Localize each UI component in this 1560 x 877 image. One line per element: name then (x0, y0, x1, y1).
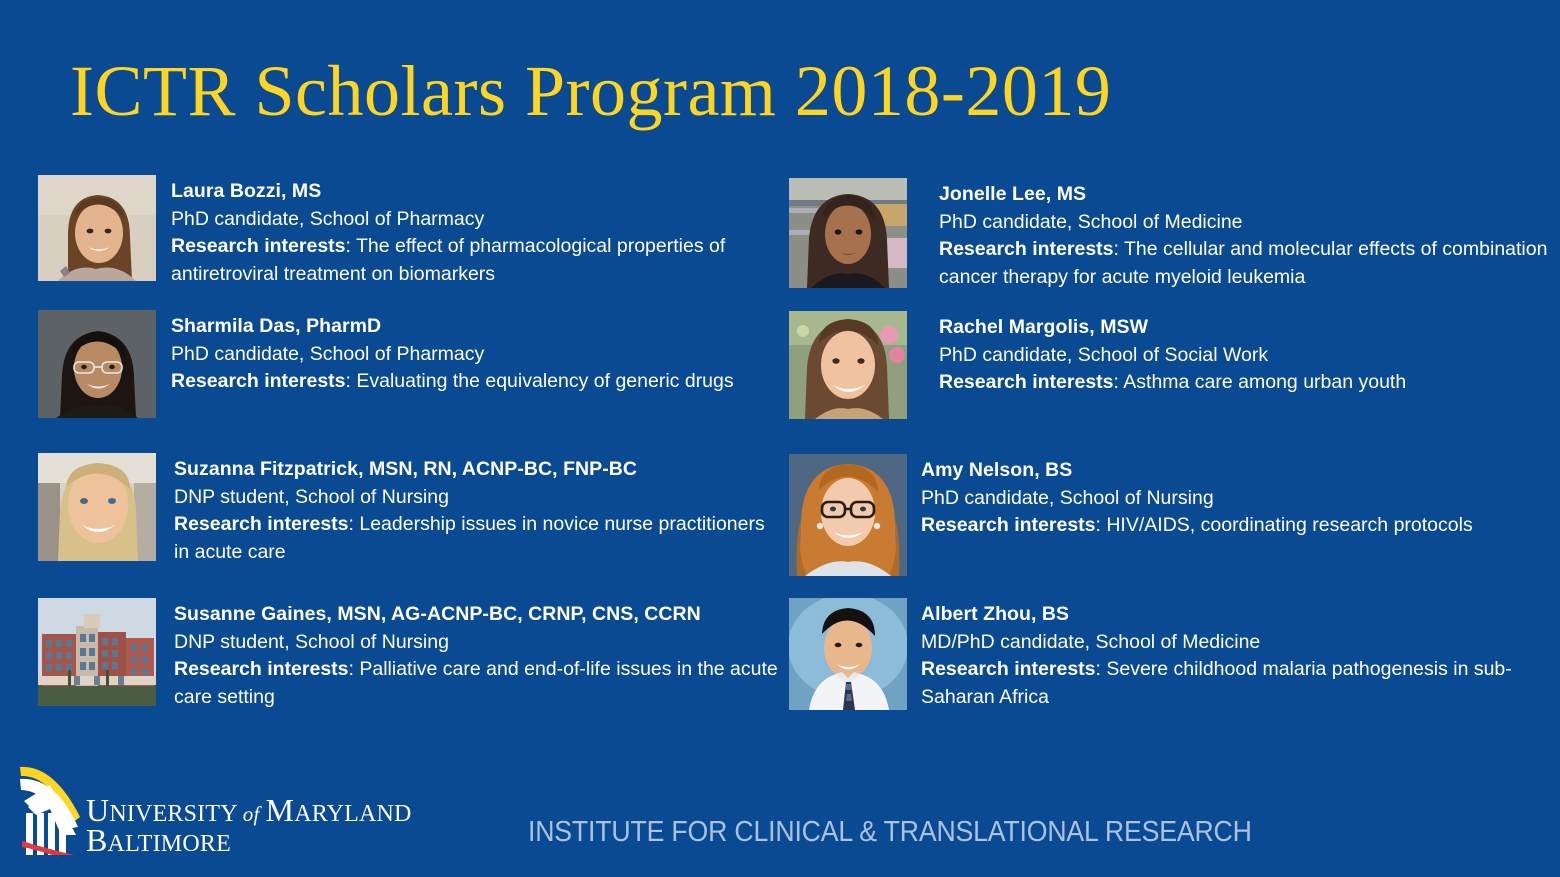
scholar-info: Albert Zhou, BS MD/PhD candidate, School… (921, 598, 1549, 711)
scholar-interests: Research interests: The cellular and mol… (939, 236, 1549, 291)
scholar-name: Jonelle Lee, MS (939, 181, 1549, 209)
scholar-program: PhD candidate, School of Social Work (939, 342, 1549, 370)
scholar-name: Sharmila Das, PharmD (171, 313, 783, 341)
interests-text: : HIV/AIDS, coordinating research protoc… (1096, 514, 1473, 536)
photo-campus-building (38, 598, 156, 706)
scholar-interests: Research interests: Leadership issues in… (174, 511, 783, 566)
scholar-info: Amy Nelson, BS PhD candidate, School of … (921, 454, 1549, 540)
portrait-suzanna-fitzpatrick (38, 453, 156, 561)
scholar-program: MD/PhD candidate, School of Medicine (921, 629, 1549, 657)
scholar-program: PhD candidate, School of Nursing (921, 485, 1549, 513)
scholar-info: Susanne Gaines, MSN, AG-ACNP-BC, CRNP, C… (174, 598, 783, 711)
portrait-jonelle-lee (789, 178, 907, 288)
portrait-albert-zhou (789, 598, 907, 710)
scholar-entry: Sharmila Das, PharmD PhD candidate, Scho… (38, 310, 783, 418)
interests-label: Research interests (174, 658, 349, 680)
scholar-entry: Amy Nelson, BS PhD candidate, School of … (789, 454, 1549, 576)
interests-label: Research interests (921, 514, 1096, 536)
scholar-name: Susanne Gaines, MSN, AG-ACNP-BC, CRNP, C… (174, 601, 783, 629)
scholar-program: PhD candidate, School of Pharmacy (171, 341, 783, 369)
scholar-info: Sharmila Das, PharmD PhD candidate, Scho… (171, 310, 783, 396)
scholar-info: Jonelle Lee, MS PhD candidate, School of… (939, 178, 1549, 291)
scholar-entry: Rachel Margolis, MSW PhD candidate, Scho… (789, 311, 1549, 419)
scholar-entry: Albert Zhou, BS MD/PhD candidate, School… (789, 598, 1549, 711)
scholar-interests: Research interests: The effect of pharma… (171, 233, 783, 288)
scholar-interests: Research interests: Evaluating the equiv… (171, 368, 783, 396)
umb-logo: UNIVERSITYofMARYLAND BALTIMORE (14, 745, 494, 855)
interests-label: Research interests (174, 513, 349, 535)
scholar-info: Laura Bozzi, MS PhD candidate, School of… (171, 175, 783, 288)
scholar-info: Rachel Margolis, MSW PhD candidate, Scho… (939, 311, 1549, 397)
scholar-interests: Research interests: Palliative care and … (174, 656, 783, 711)
scholar-interests: Research interests: Severe childhood mal… (921, 656, 1549, 711)
scholar-name: Laura Bozzi, MS (171, 178, 783, 206)
scholar-entry: Susanne Gaines, MSN, AG-ACNP-BC, CRNP, C… (38, 598, 783, 711)
portrait-sharmila-das (38, 310, 156, 418)
scholar-program: PhD candidate, School of Medicine (939, 209, 1549, 237)
scholar-entry: Jonelle Lee, MS PhD candidate, School of… (789, 178, 1549, 291)
scholar-interests: Research interests: HIV/AIDS, coordinati… (921, 512, 1549, 540)
scholar-entry: Suzanna Fitzpatrick, MSN, RN, ACNP-BC, F… (38, 453, 783, 566)
scholar-name: Rachel Margolis, MSW (939, 314, 1549, 342)
page-title: ICTR Scholars Program 2018-2019 (70, 55, 1111, 127)
institute-footer-text: INSTITUTE FOR CLINICAL & TRANSLATIONAL R… (528, 816, 1252, 849)
portrait-rachel-margolis (789, 311, 907, 419)
interests-label: Research interests (939, 238, 1114, 260)
scholar-program: DNP student, School of Nursing (174, 484, 783, 512)
scholar-info: Suzanna Fitzpatrick, MSN, RN, ACNP-BC, F… (174, 453, 783, 566)
scholar-name: Albert Zhou, BS (921, 601, 1549, 629)
scholar-program: PhD candidate, School of Pharmacy (171, 206, 783, 234)
svg-text:UNIVERSITYofMARYLAND: UNIVERSITYofMARYLAND (86, 792, 412, 828)
portrait-amy-nelson (789, 454, 907, 576)
interests-label: Research interests (171, 370, 346, 392)
interests-text: : Evaluating the equivalency of generic … (346, 370, 734, 392)
interests-text: : Asthma care among urban youth (1114, 371, 1407, 393)
interests-label: Research interests (921, 658, 1096, 680)
scholar-interests: Research interests: Asthma care among ur… (939, 369, 1549, 397)
scholar-name: Amy Nelson, BS (921, 457, 1549, 485)
interests-label: Research interests (171, 235, 346, 257)
slide-root: ICTR Scholars Program 2018-2019 (0, 0, 1560, 877)
interests-label: Research interests (939, 371, 1114, 393)
portrait-laura-bozzi (38, 175, 156, 281)
scholar-program: DNP student, School of Nursing (174, 629, 783, 657)
scholar-entry: Laura Bozzi, MS PhD candidate, School of… (38, 175, 783, 288)
scholar-name: Suzanna Fitzpatrick, MSN, RN, ACNP-BC, F… (174, 456, 783, 484)
